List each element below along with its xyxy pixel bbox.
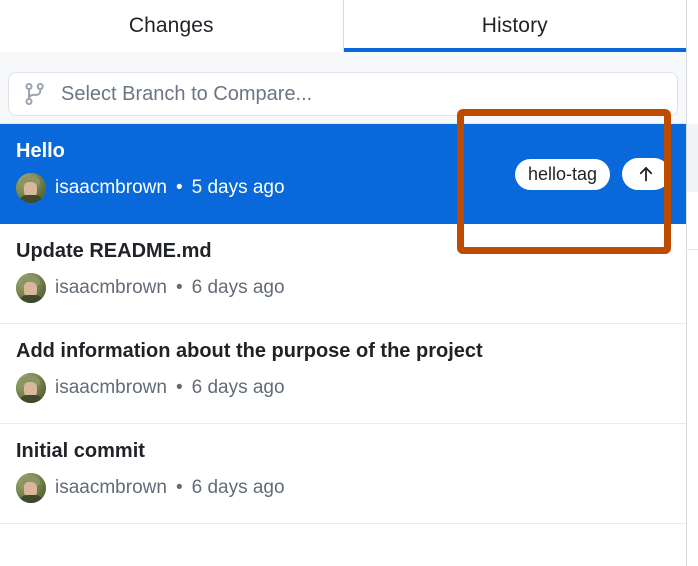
avatar — [16, 473, 46, 503]
commit-meta: isaacmbrown • 6 days ago — [16, 273, 670, 303]
commit-time: 6 days ago — [192, 477, 285, 499]
tab-changes-label: Changes — [129, 14, 214, 38]
commit-row-actions: hello-tag — [515, 158, 670, 190]
up-arrow-icon — [636, 164, 656, 184]
meta-separator: • — [176, 177, 183, 199]
commit-time: 6 days ago — [192, 377, 285, 399]
avatar — [16, 373, 46, 403]
branch-compare-input[interactable]: Select Branch to Compare... — [8, 72, 678, 116]
panel-divider — [686, 0, 687, 566]
commit-row[interactable]: Update README.md isaacmbrown • 6 days ag… — [0, 224, 686, 324]
right-pane-gutter — [687, 0, 698, 566]
meta-separator: • — [176, 277, 183, 299]
tab-history-label: History — [482, 14, 548, 38]
branch-compare-placeholder: Select Branch to Compare... — [61, 83, 312, 106]
history-panel: Changes History Select Branch to Compare… — [0, 0, 698, 566]
commit-row[interactable]: Initial commit isaacmbrown • 6 days ago — [0, 424, 686, 524]
commit-author: isaacmbrown — [55, 177, 167, 199]
commit-row[interactable]: Hello isaacmbrown • 5 days ago hello-tag — [0, 124, 686, 224]
meta-separator: • — [176, 377, 183, 399]
commit-history-list[interactable]: Hello isaacmbrown • 5 days ago hello-tag — [0, 124, 686, 566]
avatar — [16, 273, 46, 303]
commit-time: 6 days ago — [192, 277, 285, 299]
commit-author: isaacmbrown — [55, 277, 167, 299]
commit-title: Update README.md — [16, 238, 670, 264]
git-branch-icon — [23, 81, 47, 107]
commit-row[interactable]: Add information about the purpose of the… — [0, 324, 686, 424]
commit-title: Add information about the purpose of the… — [16, 338, 670, 364]
push-commit-button[interactable] — [622, 158, 670, 190]
commit-author: isaacmbrown — [55, 377, 167, 399]
commit-author: isaacmbrown — [55, 477, 167, 499]
commit-meta: isaacmbrown • 6 days ago — [16, 473, 670, 503]
commit-meta: isaacmbrown • 6 days ago — [16, 373, 670, 403]
tab-history[interactable]: History — [344, 0, 687, 52]
commit-time: 5 days ago — [192, 177, 285, 199]
avatar — [16, 173, 46, 203]
commit-title: Initial commit — [16, 438, 670, 464]
tag-badge[interactable]: hello-tag — [515, 159, 610, 190]
tab-changes[interactable]: Changes — [0, 0, 344, 52]
tab-bar: Changes History — [0, 0, 686, 52]
meta-separator: • — [176, 477, 183, 499]
compare-bar: Select Branch to Compare... — [0, 52, 686, 124]
